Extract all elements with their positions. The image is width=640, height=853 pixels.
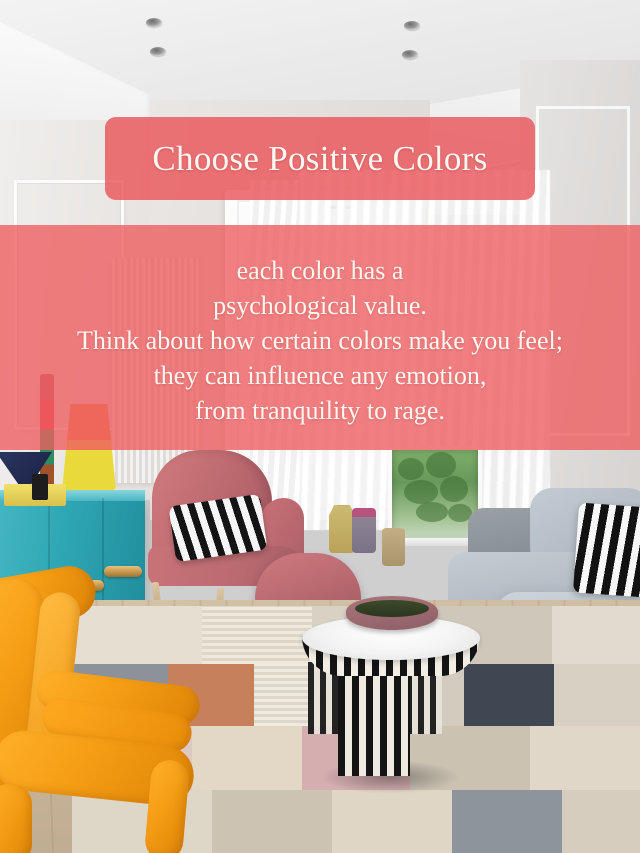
decor-black-box — [32, 474, 48, 500]
page-title: Choose Positive Colors — [152, 139, 487, 179]
body-line: each color has a — [237, 253, 404, 288]
table-base — [338, 664, 410, 776]
ceiling-spotlight-icon — [402, 50, 418, 59]
body-line: Think about how certain colors make you … — [77, 323, 563, 358]
title-banner: Choose Positive Colors — [105, 117, 535, 200]
orange-tubular-chair — [0, 578, 260, 853]
drawer-handle — [104, 566, 142, 577]
ceramic-vase-beige — [382, 528, 405, 566]
sofa-striped-pillow — [573, 503, 640, 598]
ceramic-vase-pink — [352, 508, 376, 553]
chair-front-leg — [144, 759, 191, 853]
poster-canvas: Choose Positive Colors each color has a … — [0, 0, 640, 853]
chair-back-leg — [0, 784, 32, 853]
rose-bowl — [346, 596, 438, 630]
ceiling-spotlight-icon — [404, 21, 420, 30]
body-line: psychological value. — [213, 288, 427, 323]
body-line: from tranquility to rage. — [195, 393, 445, 428]
ceiling-spotlight-icon — [146, 18, 162, 27]
body-text-panel: each color has a psychological value. Th… — [0, 225, 640, 450]
body-line: they can influence any emotion, — [154, 358, 487, 393]
ceiling-spotlight-icon — [150, 47, 166, 56]
